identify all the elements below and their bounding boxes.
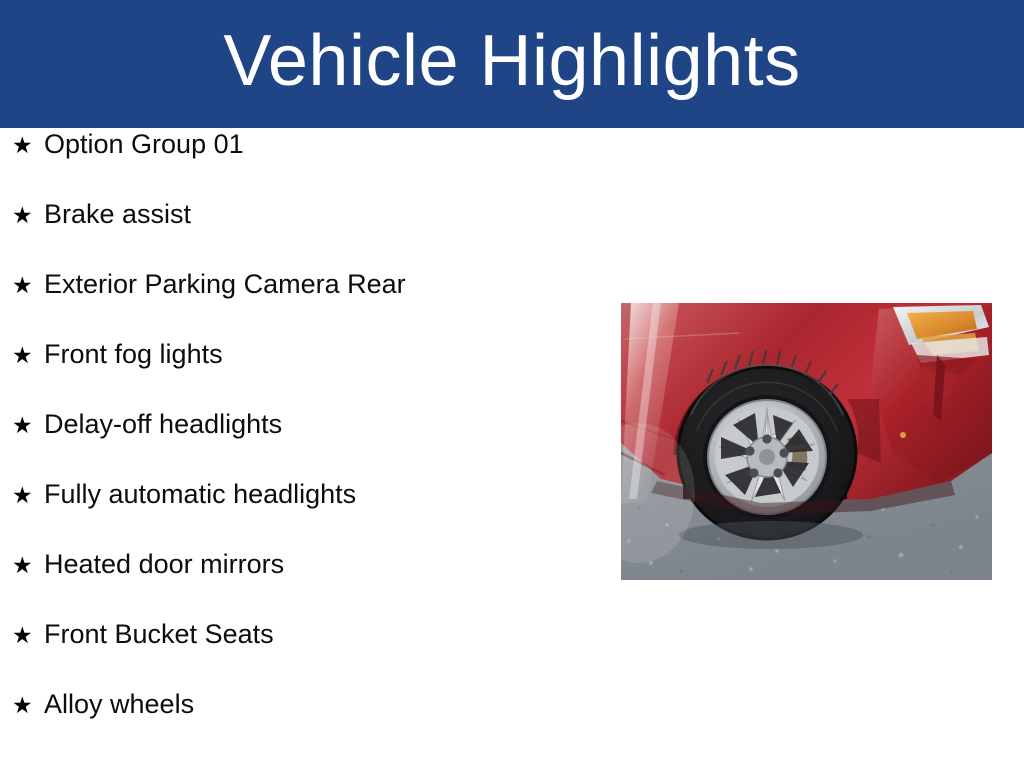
title-banner: Vehicle Highlights xyxy=(0,0,1024,128)
vehicle-photo xyxy=(621,303,992,580)
list-item: ★ Alloy wheels xyxy=(0,691,620,761)
list-item: ★ Fully automatic headlights xyxy=(0,481,620,551)
vehicle-highlights-list: ★ Option Group 01 ★ Brake assist ★ Exter… xyxy=(0,131,620,761)
list-item-label: Front fog lights xyxy=(44,341,223,368)
star-bullet-icon: ★ xyxy=(12,345,44,368)
list-item-label: Heated door mirrors xyxy=(44,551,284,578)
list-item-label: Option Group 01 xyxy=(44,131,244,158)
list-item: ★ Option Group 01 xyxy=(0,131,620,201)
list-item-label: Exterior Parking Camera Rear xyxy=(44,271,406,298)
page-title: Vehicle Highlights xyxy=(223,25,800,103)
star-bullet-icon: ★ xyxy=(12,555,44,578)
list-item-label: Front Bucket Seats xyxy=(44,621,274,648)
list-item-label: Delay-off headlights xyxy=(44,411,282,438)
star-bullet-icon: ★ xyxy=(12,275,44,298)
list-item-label: Fully automatic headlights xyxy=(44,481,356,508)
list-item-label: Brake assist xyxy=(44,201,191,228)
star-bullet-icon: ★ xyxy=(12,485,44,508)
list-item-label: Alloy wheels xyxy=(44,691,194,718)
list-item: ★ Heated door mirrors xyxy=(0,551,620,621)
star-bullet-icon: ★ xyxy=(12,135,44,158)
list-item: ★ Brake assist xyxy=(0,201,620,271)
star-bullet-icon: ★ xyxy=(12,625,44,648)
list-item: ★ Front Bucket Seats xyxy=(0,621,620,691)
star-bullet-icon: ★ xyxy=(12,415,44,438)
star-bullet-icon: ★ xyxy=(12,205,44,228)
star-bullet-icon: ★ xyxy=(12,695,44,718)
list-item: ★ Exterior Parking Camera Rear xyxy=(0,271,620,341)
slide-root: Vehicle Highlights ★ Option Group 01 ★ B… xyxy=(0,0,1024,768)
vehicle-photo-graphic xyxy=(621,303,992,580)
list-item: ★ Front fog lights xyxy=(0,341,620,411)
list-item: ★ Delay-off headlights xyxy=(0,411,620,481)
